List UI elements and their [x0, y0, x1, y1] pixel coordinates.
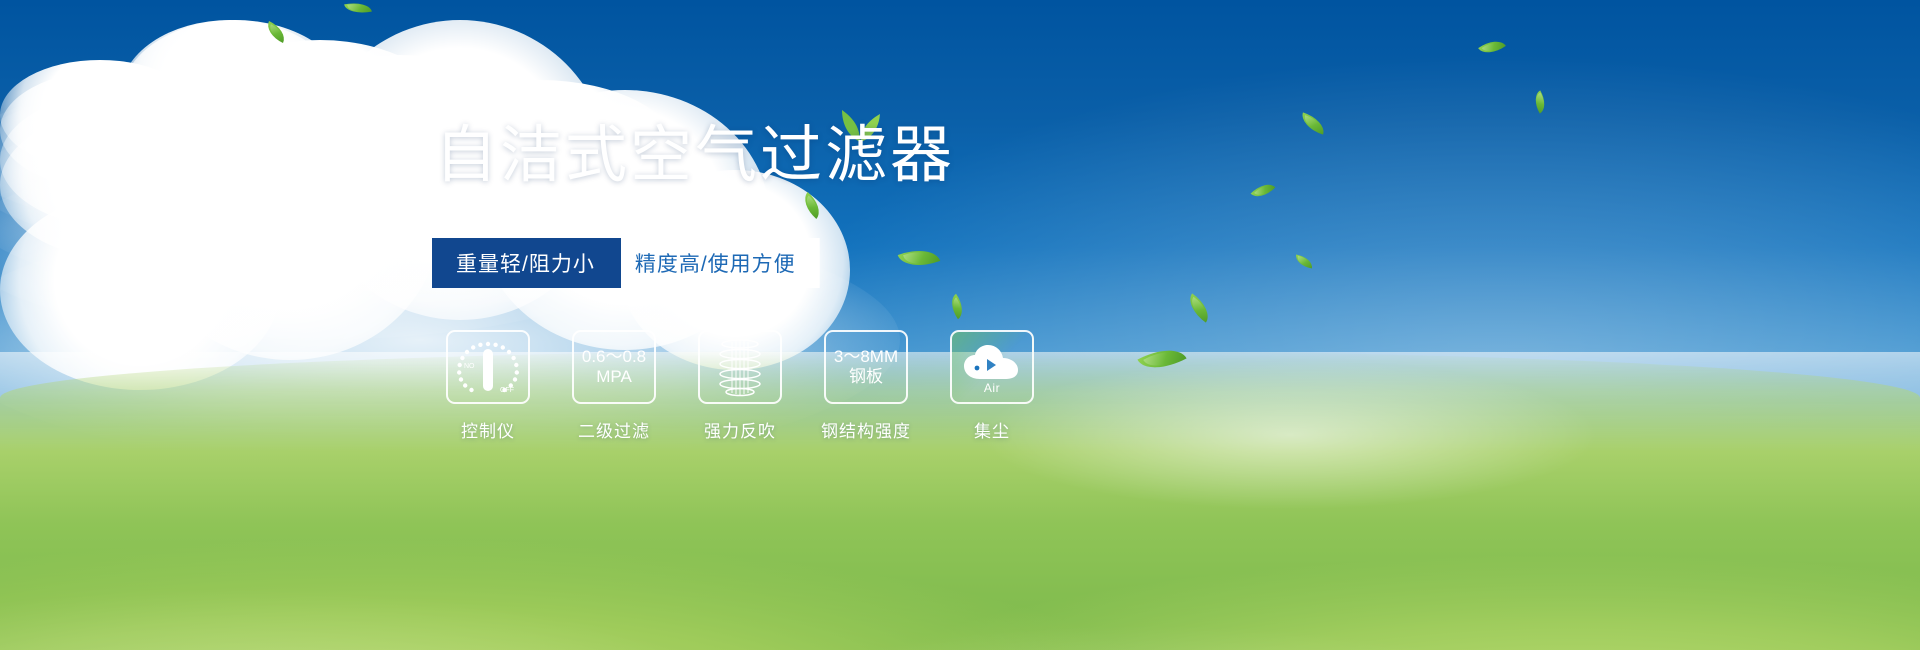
feature-list: NO OFF 控制仪 0.6～0.8 MPA 二级过滤: [438, 330, 1042, 442]
dial-off-label: OFF: [500, 387, 514, 394]
feature-tabs: 重量轻/阻力小 精度高/使用方便: [432, 238, 820, 288]
page-title: 自洁式空气过滤器: [435, 125, 955, 187]
feature-label: 强力反吹: [704, 417, 776, 442]
hero-banner: 自洁式空气过滤器 重量轻/阻力小 精度高/使用方便: [0, 0, 1920, 650]
feature-label: 钢结构强度: [821, 417, 911, 442]
air-label: Air: [952, 381, 1032, 395]
feature-item-steel[interactable]: 3～8MM 钢板 钢结构强度: [816, 330, 916, 442]
dial-knob-icon: NO OFF: [453, 336, 523, 398]
feature-label: 控制仪: [461, 417, 515, 442]
steel-material: 钢板: [849, 367, 883, 387]
dial-on-label: NO: [464, 363, 475, 370]
tab-weight-resistance[interactable]: 重量轻/阻力小: [432, 238, 621, 288]
filter-cartridge-icon: [709, 337, 771, 397]
feature-item-dust[interactable]: Air 集尘: [942, 330, 1042, 442]
feature-item-pressure[interactable]: 0.6～0.8 MPA 二级过滤: [564, 330, 664, 442]
feature-box: Air: [950, 330, 1034, 404]
banner-content: 自洁式空气过滤器 重量轻/阻力小 精度高/使用方便: [0, 0, 1920, 650]
feature-box: NO OFF: [446, 330, 530, 404]
cloud-air-icon: [960, 343, 1024, 385]
feature-label: 集尘: [974, 417, 1010, 442]
feature-box: 3～8MM 钢板: [824, 330, 908, 404]
feature-label: 二级过滤: [578, 417, 650, 442]
steel-thickness: 3～8MM: [834, 347, 898, 367]
feature-item-controller[interactable]: NO OFF 控制仪: [438, 330, 538, 442]
feature-box: 0.6～0.8 MPA: [572, 330, 656, 404]
pressure-range: 0.6～0.8: [582, 347, 646, 367]
feature-box: [698, 330, 782, 404]
tab-precision-ease[interactable]: 精度高/使用方便: [603, 238, 820, 288]
pressure-unit: MPA: [596, 367, 632, 387]
feature-item-backblow[interactable]: 强力反吹: [690, 330, 790, 442]
